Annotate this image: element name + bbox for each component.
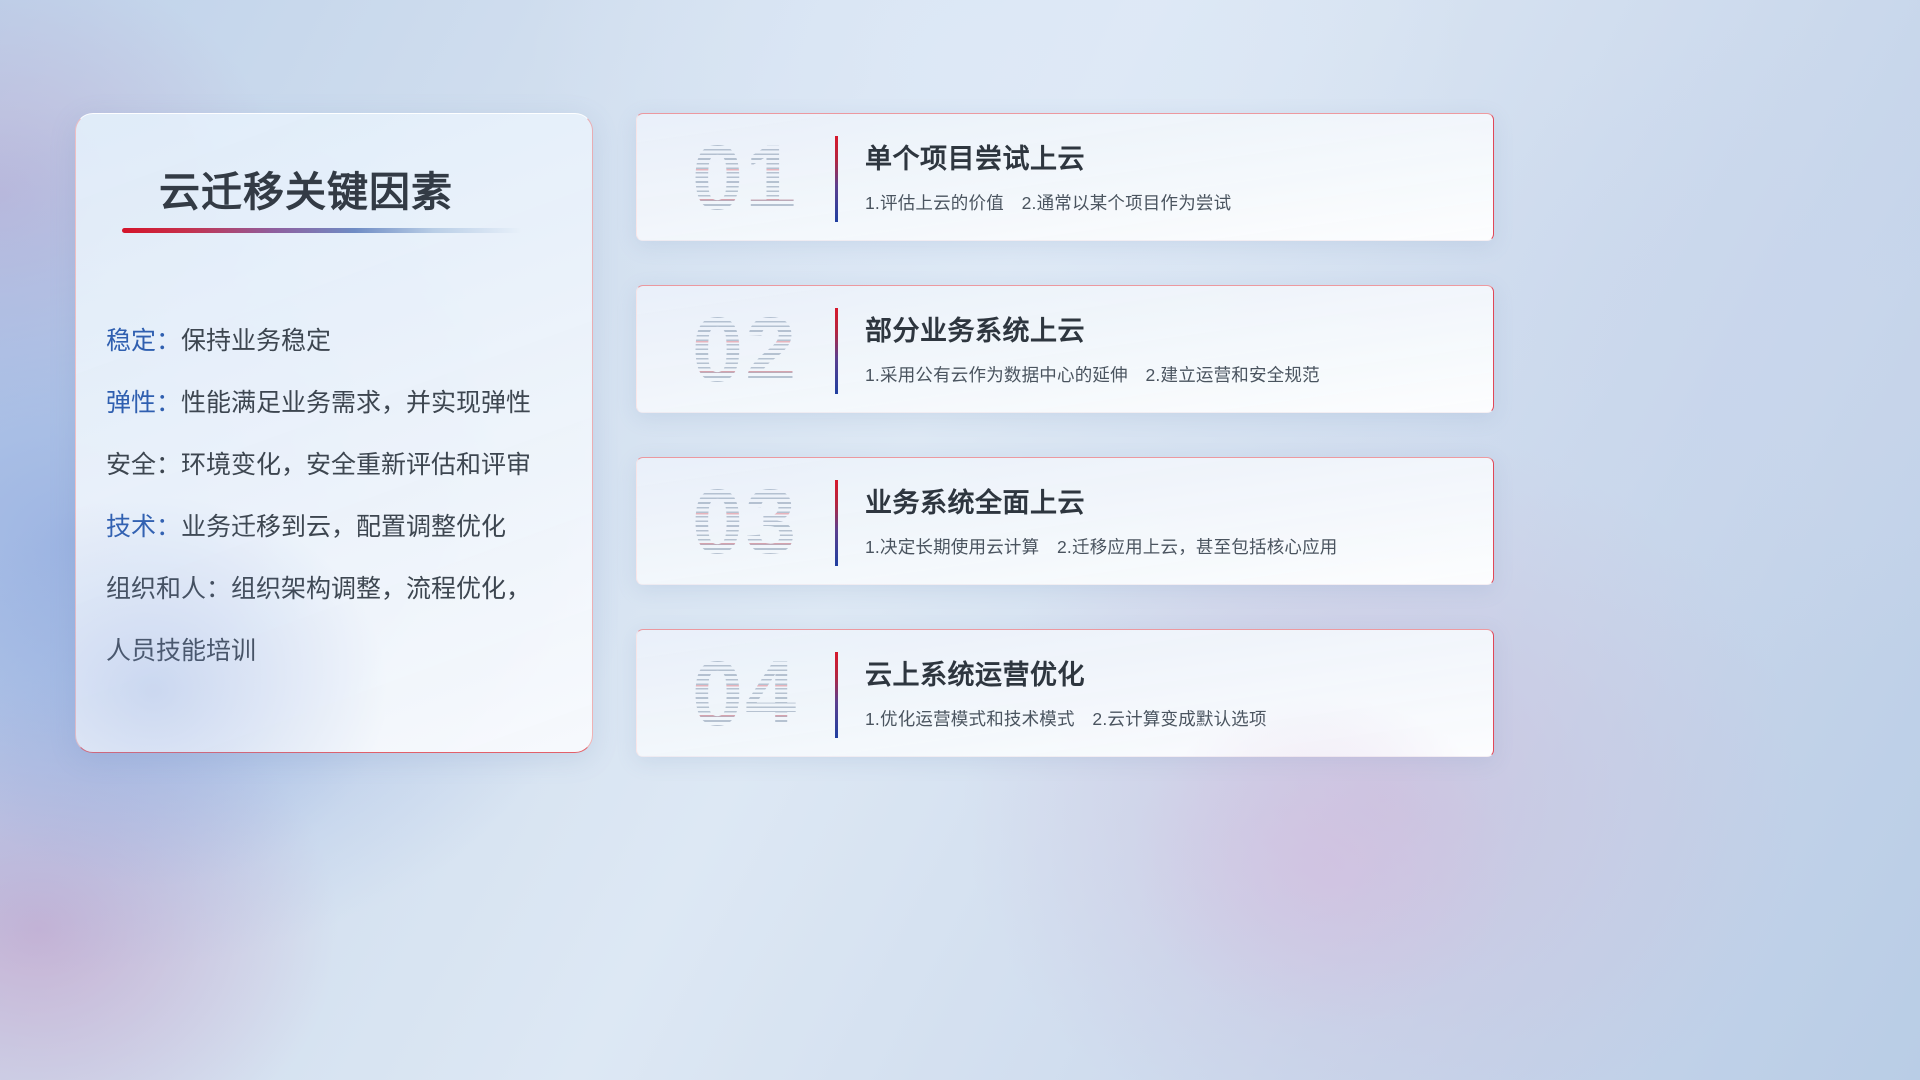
factor-text: 保持业务稳定 xyxy=(181,327,331,355)
step-card[interactable]: 0303业务系统全面上云1.决定长期使用云计算 2.迁移应用上云，甚至包括核心应… xyxy=(636,457,1494,585)
card-accent-divider xyxy=(835,136,838,222)
factor-row: 弹性：性能满足业务需求，并实现弹性 xyxy=(106,372,576,434)
card-accent-divider xyxy=(835,308,838,394)
factor-row: 人员技能培训 xyxy=(106,620,576,682)
step-subtitle: 1.决定长期使用云计算 2.迁移应用上云，甚至包括核心应用 xyxy=(865,534,1338,559)
factor-label: 稳定： xyxy=(106,327,181,355)
step-number-watermark: 04 xyxy=(665,642,825,746)
step-number-watermark: 01 xyxy=(665,126,825,230)
card-accent-divider xyxy=(835,652,838,738)
factor-label: 弹性： xyxy=(106,389,181,417)
card-accent-divider xyxy=(835,480,838,566)
factor-row: 技术：业务迁移到云，配置调整优化 xyxy=(106,496,576,558)
factor-text: 组织架构调整，流程优化， xyxy=(231,575,531,603)
factor-label: 技术： xyxy=(106,513,181,541)
migration-steps-list: 0101单个项目尝试上云1.评估上云的价值 2.通常以某个项目作为尝试0202部… xyxy=(636,113,1858,801)
step-title: 部分业务系统上云 xyxy=(865,309,1085,348)
factor-row: 组织和人：组织架构调整，流程优化， xyxy=(106,558,576,620)
factor-row: 安全：环境变化，安全重新评估和评审 xyxy=(106,434,576,496)
factor-text: 环境变化，安全重新评估和评审 xyxy=(181,451,531,479)
factor-list: 稳定：保持业务稳定弹性：性能满足业务需求，并实现弹性安全：环境变化，安全重新评估… xyxy=(106,310,576,682)
step-card[interactable]: 0101单个项目尝试上云1.评估上云的价值 2.通常以某个项目作为尝试 xyxy=(636,113,1494,241)
factor-row: 稳定：保持业务稳定 xyxy=(106,310,576,372)
factor-text: 人员技能培训 xyxy=(106,637,256,665)
step-title: 业务系统全面上云 xyxy=(865,481,1085,520)
step-title: 单个项目尝试上云 xyxy=(865,137,1085,176)
step-subtitle: 1.评估上云的价值 2.通常以某个项目作为尝试 xyxy=(865,190,1231,215)
step-title: 云上系统运营优化 xyxy=(865,653,1085,692)
title-underline-rule xyxy=(122,228,522,233)
step-number-watermark: 03 xyxy=(665,470,825,574)
slide-canvas: 云迁移关键因素 稳定：保持业务稳定弹性：性能满足业务需求，并实现弹性安全：环境变… xyxy=(0,0,1920,1080)
key-factors-panel: 云迁移关键因素 稳定：保持业务稳定弹性：性能满足业务需求，并实现弹性安全：环境变… xyxy=(75,113,593,753)
factor-label: 组织和人： xyxy=(106,575,231,603)
step-card[interactable]: 0202部分业务系统上云1.采用公有云作为数据中心的延伸 2.建立运营和安全规范 xyxy=(636,285,1494,413)
step-number-watermark: 02 xyxy=(665,298,825,402)
factor-text: 业务迁移到云，配置调整优化 xyxy=(181,513,506,541)
page-title: 云迁移关键因素 xyxy=(159,158,453,218)
step-subtitle: 1.采用公有云作为数据中心的延伸 2.建立运营和安全规范 xyxy=(865,362,1320,387)
factor-label: 安全： xyxy=(106,451,181,479)
step-subtitle: 1.优化运营模式和技术模式 2.云计算变成默认选项 xyxy=(865,706,1267,731)
step-card[interactable]: 0404云上系统运营优化1.优化运营模式和技术模式 2.云计算变成默认选项 xyxy=(636,629,1494,757)
factor-text: 性能满足业务需求，并实现弹性 xyxy=(181,389,531,417)
